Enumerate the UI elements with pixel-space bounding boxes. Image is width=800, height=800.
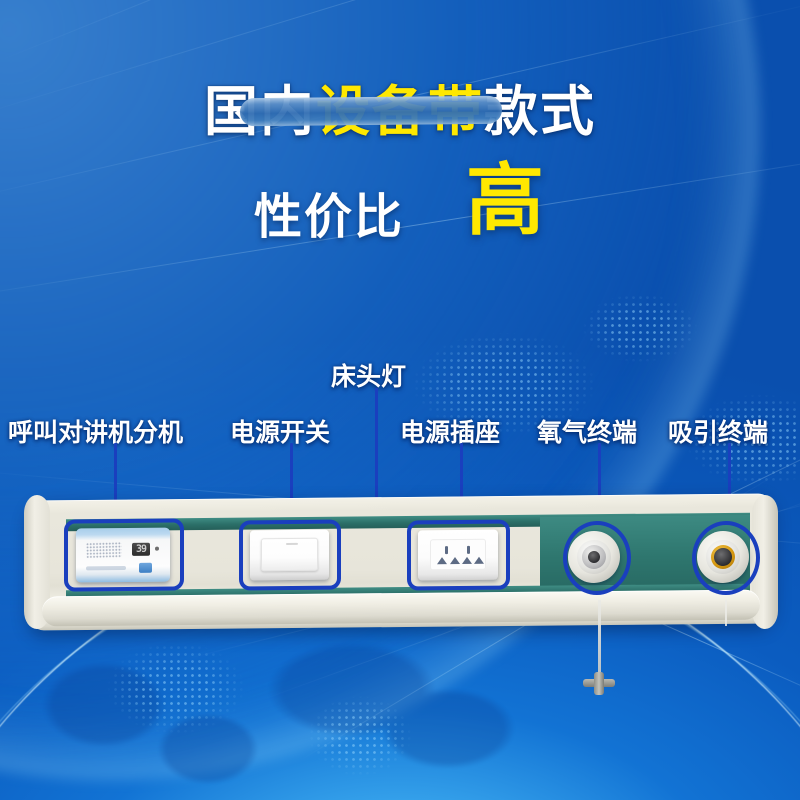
hanging-probe-cord [598, 600, 601, 682]
highlight-ring-oxygen [563, 521, 631, 596]
bed-lamp-diffuser[interactable] [240, 96, 502, 127]
callout-label-oxygen-outlet: 氧气终端 [537, 413, 637, 449]
callout-label-intercom: 呼叫对讲机分机 [8, 413, 183, 449]
highlight-ring-suction [692, 521, 760, 596]
callout-label-suction-outlet: 吸引终端 [668, 413, 768, 449]
highlight-box-power-switch [239, 520, 341, 591]
highlight-box-intercom [64, 518, 184, 591]
callout-label-power-socket: 电源插座 [400, 413, 500, 449]
highlight-box-power-socket [407, 520, 510, 591]
callout-label-power-switch: 电源开关 [230, 413, 330, 449]
suction-terminal-wire [725, 600, 727, 626]
cross-fitting-vertical-icon [594, 672, 604, 695]
callout-label-bed-lamp: 床头灯 [331, 357, 406, 393]
